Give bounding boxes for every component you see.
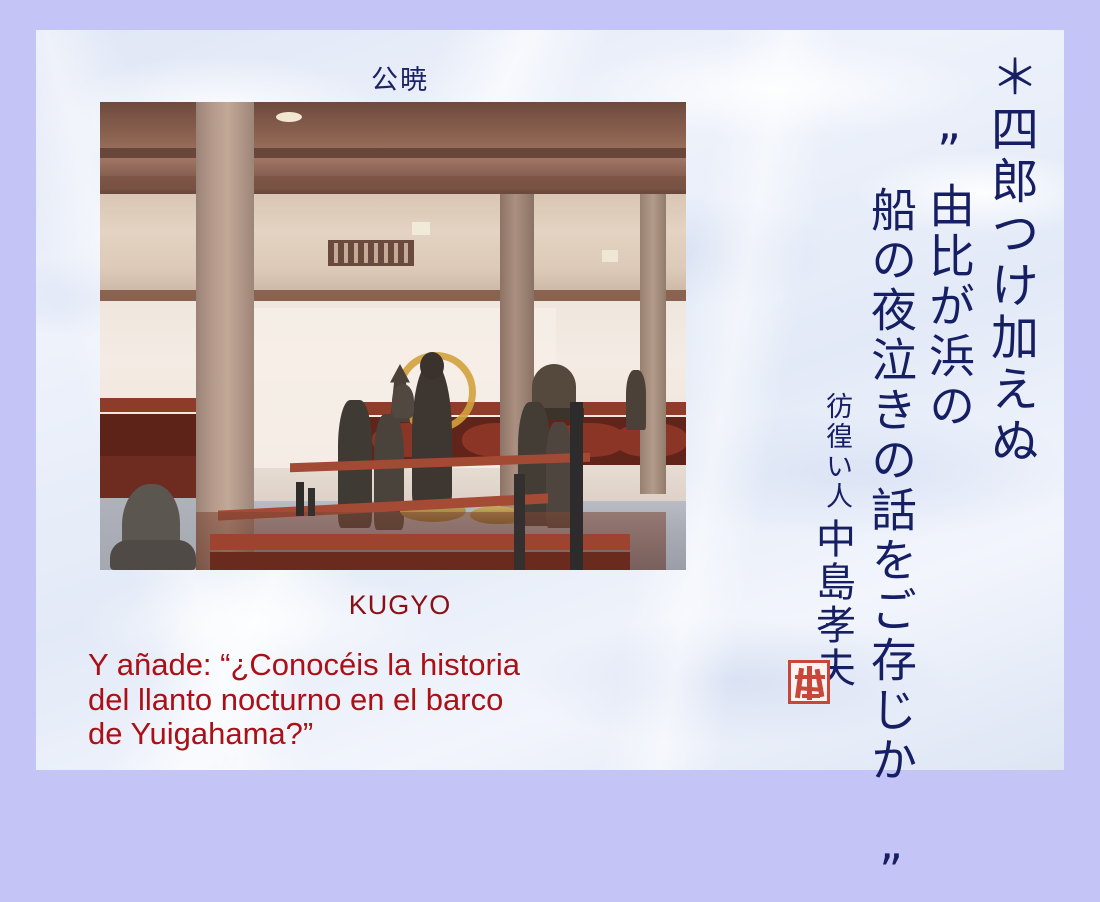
spanish-text-block: Y añade: “¿Conocéis la historia del llan… (88, 648, 688, 752)
photo-candle-stand-2 (308, 488, 315, 516)
photo-front-railing-top (210, 534, 630, 550)
temple-photo (100, 102, 686, 570)
slide-root: 公暁 (0, 0, 1100, 800)
photo-guardian-statue-5 (392, 384, 414, 418)
photo-candle-stand-1 (296, 482, 304, 516)
photo-stone-base (110, 540, 196, 570)
photo-front-railing-body (210, 552, 630, 570)
photo-ceiling-beam (100, 148, 686, 158)
photo-caption: KUGYO (240, 590, 560, 621)
photo-standing-buddha (412, 360, 452, 508)
photo-vent-grille (328, 240, 414, 266)
photo-pillar-right (640, 194, 666, 494)
photo-wall-lamp (412, 222, 430, 235)
japanese-poem-column-1: ＊四郎つけ加えぬ (984, 52, 1034, 468)
photo-stanchion-2 (514, 474, 525, 570)
poem-signature-title: 彷徨い人 (822, 392, 850, 512)
spanish-line-3: de Yuigahama?” (88, 717, 688, 752)
photo-ceiling-beam-2 (100, 176, 686, 190)
photo-far-statue (626, 370, 646, 430)
photo-wall-molding (100, 290, 686, 301)
japanese-poem-column-3: 船の夜泣きの話をご存じか ” (866, 186, 914, 902)
spanish-line-1: Y añade: “¿Conocéis la historia (88, 648, 688, 683)
japanese-poem-column-2: ”由比が浜の (924, 124, 972, 432)
photo-pillar-main (196, 102, 254, 570)
photo-stanchion-1 (570, 402, 583, 570)
spanish-line-2: del llanto nocturno en el barco (88, 683, 688, 718)
photo-wall-lamp-2 (602, 250, 618, 262)
page-title: 公暁 (300, 58, 500, 97)
photo-ceiling-light (276, 112, 302, 122)
hanko-seal-icon (788, 660, 830, 704)
photo-standing-buddha-head (420, 352, 444, 380)
